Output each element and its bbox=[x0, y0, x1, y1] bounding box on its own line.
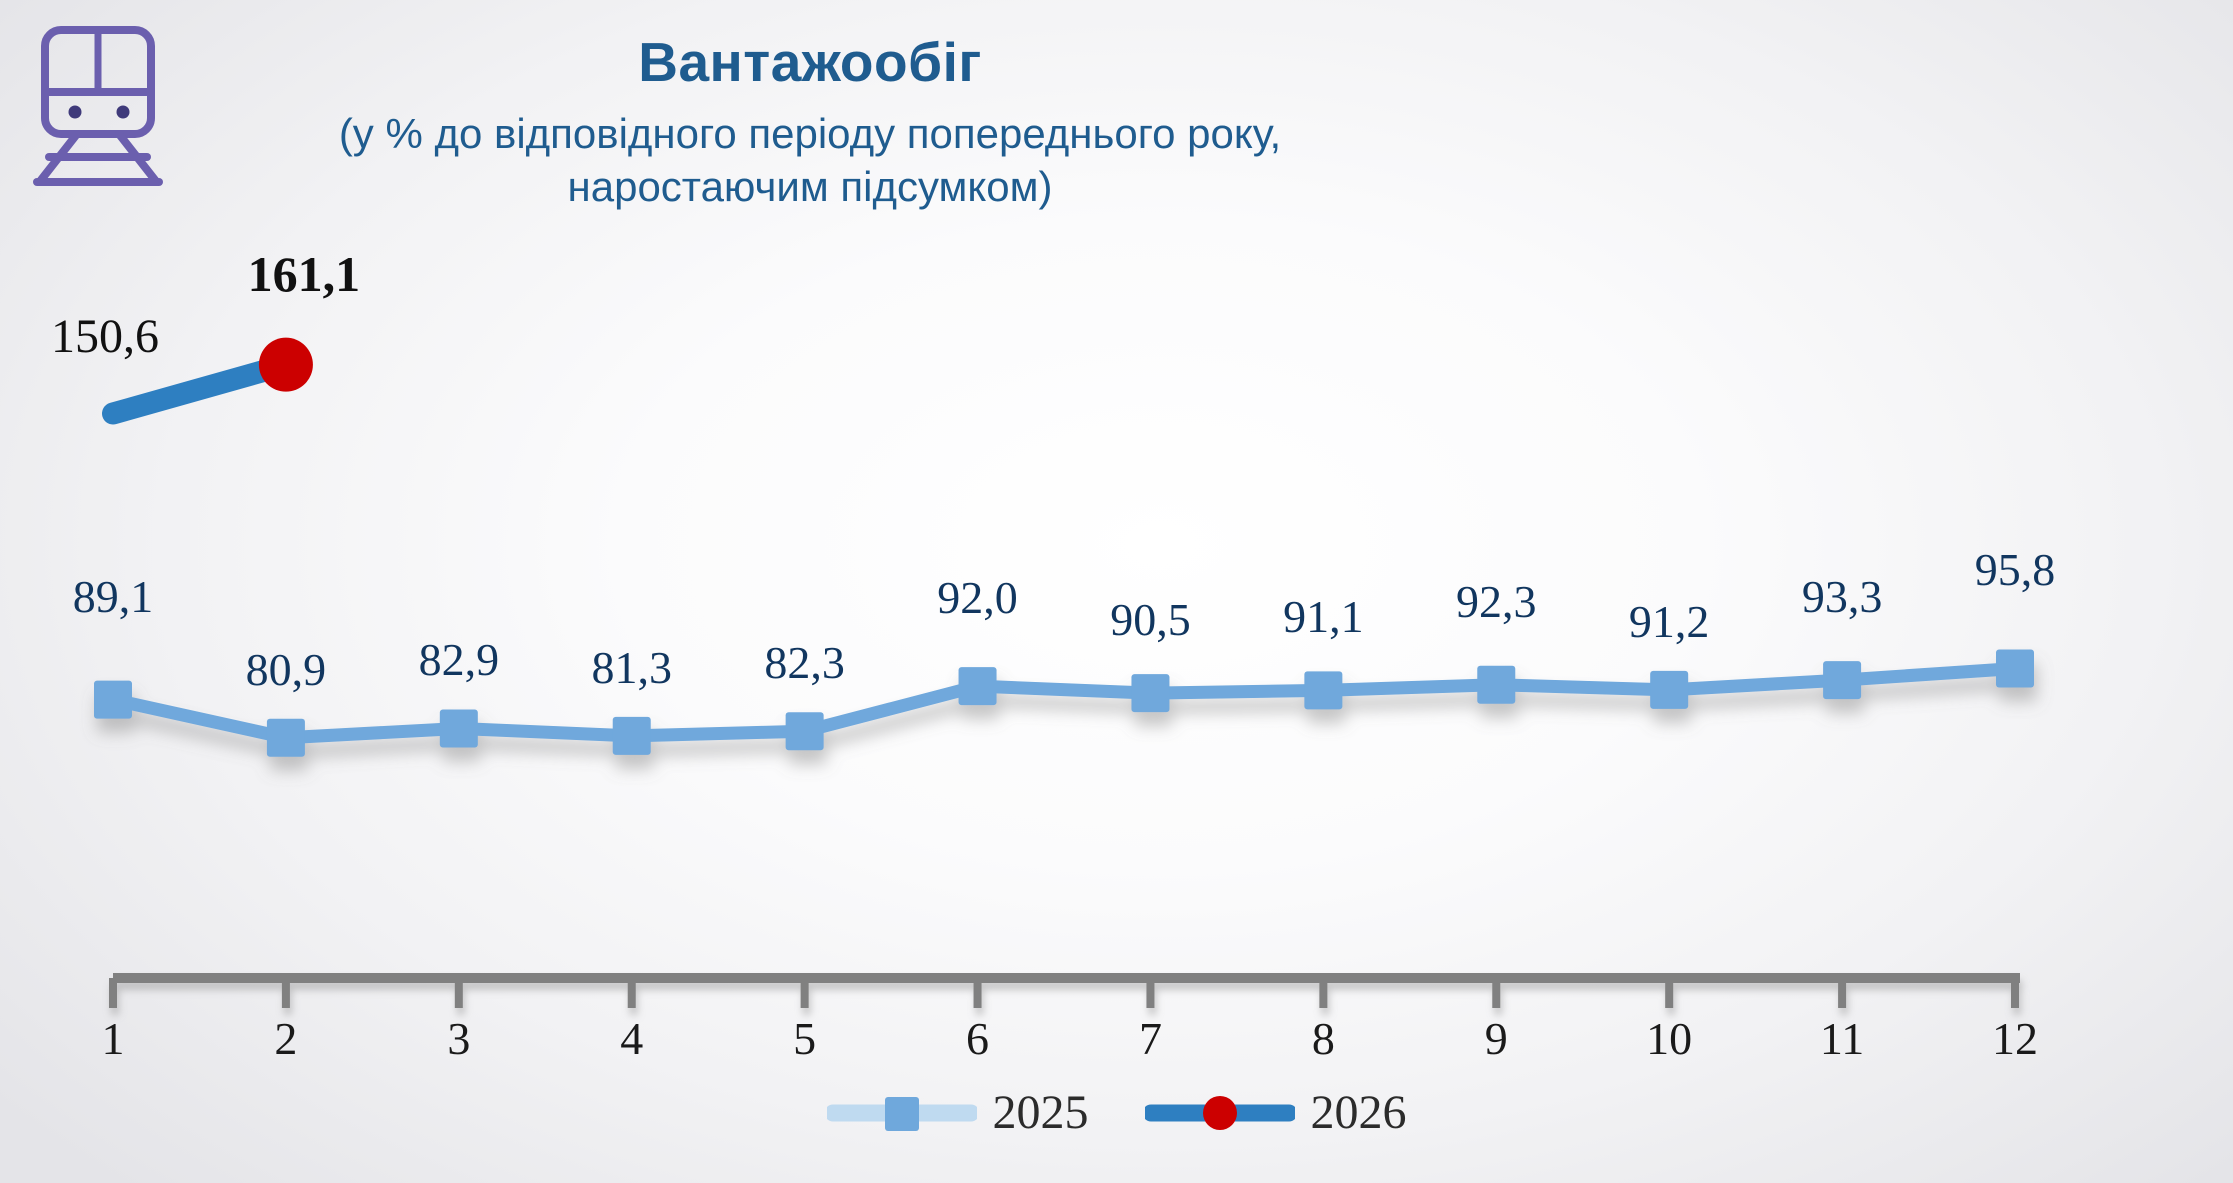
data-point-2025 bbox=[786, 712, 824, 750]
data-point-2025 bbox=[1131, 674, 1169, 712]
data-label-2026: 150,6 bbox=[51, 309, 159, 364]
x-axis-tick-label: 6 bbox=[966, 1012, 989, 1065]
chart-canvas: Вантажообіг (у % до відповідного періоду… bbox=[0, 0, 2233, 1183]
data-label-2025: 80,9 bbox=[246, 643, 327, 696]
data-label-2025: 91,1 bbox=[1283, 590, 1364, 643]
chart-legend: 2025 2026 bbox=[0, 1085, 2233, 1140]
data-point-2025 bbox=[1304, 671, 1342, 709]
data-point-2025 bbox=[267, 719, 305, 757]
data-point-2025 bbox=[440, 709, 478, 747]
x-axis-tick-label: 12 bbox=[1992, 1012, 2038, 1065]
x-axis-tick-label: 2 bbox=[274, 1012, 297, 1065]
x-axis-tick-label: 11 bbox=[1820, 1012, 1864, 1065]
data-label-2025: 89,1 bbox=[73, 570, 154, 623]
data-point-2025 bbox=[1996, 649, 2034, 687]
data-point-2025 bbox=[1823, 661, 1861, 699]
data-label-2025: 91,2 bbox=[1629, 595, 1710, 648]
data-label-2025: 93,3 bbox=[1802, 570, 1883, 623]
x-axis-tick-label: 1 bbox=[102, 1012, 125, 1065]
x-axis bbox=[113, 978, 2020, 1008]
data-point-2025 bbox=[613, 717, 651, 755]
data-label-2025: 95,8 bbox=[1975, 543, 2056, 596]
data-point-2025 bbox=[1477, 666, 1515, 704]
data-point-2025 bbox=[1650, 671, 1688, 709]
data-point-2025 bbox=[959, 667, 997, 705]
legend-swatch-2026 bbox=[1145, 1093, 1295, 1133]
legend-item-2025[interactable]: 2025 bbox=[827, 1085, 1089, 1140]
x-axis-tick-label: 5 bbox=[793, 1012, 816, 1065]
data-point-2025 bbox=[94, 681, 132, 719]
legend-swatch-2025 bbox=[827, 1093, 977, 1133]
x-axis-tick-label: 7 bbox=[1139, 1012, 1162, 1065]
legend-item-2026[interactable]: 2026 bbox=[1145, 1085, 1407, 1140]
x-axis-tick-label: 4 bbox=[620, 1012, 643, 1065]
legend-label-2026: 2026 bbox=[1311, 1085, 1407, 1140]
x-axis-tick-label: 9 bbox=[1485, 1012, 1508, 1065]
x-axis-tick-label: 10 bbox=[1646, 1012, 1692, 1065]
x-axis-tick-label: 3 bbox=[447, 1012, 470, 1065]
data-point-2026-current bbox=[259, 338, 313, 392]
data-label-2025: 82,3 bbox=[764, 636, 845, 689]
series-2025 bbox=[94, 649, 2034, 756]
data-label-2025: 82,9 bbox=[419, 633, 500, 686]
data-label-2025: 90,5 bbox=[1110, 593, 1191, 646]
data-label-2025: 81,3 bbox=[591, 641, 672, 694]
plot-area bbox=[0, 0, 2233, 1183]
data-label-2025: 92,0 bbox=[937, 571, 1018, 624]
x-axis-tick-label: 8 bbox=[1312, 1012, 1335, 1065]
data-label-2026: 161,1 bbox=[248, 245, 361, 303]
data-label-2025: 92,3 bbox=[1456, 575, 1537, 628]
legend-label-2025: 2025 bbox=[993, 1085, 1089, 1140]
